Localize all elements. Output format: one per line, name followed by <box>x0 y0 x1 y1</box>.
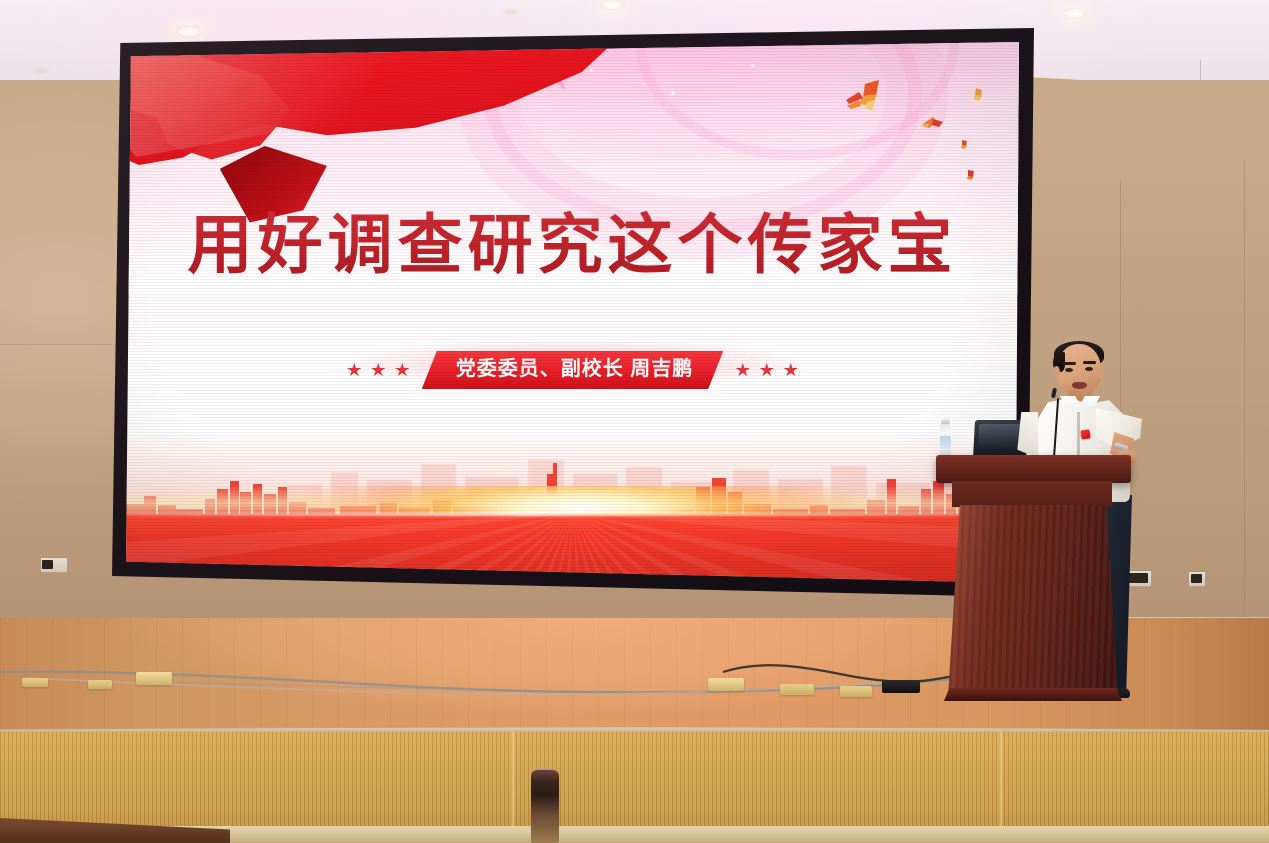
slide-ground-scene <box>126 348 1019 589</box>
podium-body <box>948 505 1118 697</box>
origami-bird-icon <box>965 168 979 181</box>
speaker-ear <box>1053 366 1060 378</box>
bottle-cap <box>941 418 950 424</box>
stage-panel-seam <box>1000 732 1002 827</box>
party-badge-pin <box>1080 429 1090 439</box>
cable-tape-strip <box>708 678 744 691</box>
cable-tape-strip <box>88 680 112 689</box>
origami-bird-icon <box>919 115 945 131</box>
auditorium-photo: 用好调查研究这个传家宝 党委委员、副校长 周吉鹏 <box>0 0 1269 843</box>
ceiling-downlight <box>30 66 52 75</box>
speaker-eye <box>1065 368 1073 372</box>
speaker-ear <box>1097 366 1104 378</box>
ceiling-downlight <box>1062 8 1087 19</box>
led-screen[interactable]: 用好调查研究这个传家宝 党委委员、副校长 周吉鹏 <box>126 42 1019 589</box>
wall-panel-seam <box>1244 160 1245 620</box>
cable-tape-strip <box>840 686 872 697</box>
cable-tape-strip <box>780 684 814 695</box>
outlet-slot <box>1129 573 1148 583</box>
horizon-light-streak <box>126 513 1019 516</box>
speaker-eyebrow <box>1063 362 1076 365</box>
ceiling-downlight <box>500 8 520 16</box>
wall-panel-seam <box>0 344 112 345</box>
wall-outlet[interactable] <box>1188 571 1206 587</box>
outlet-slot <box>1191 574 1202 583</box>
speaker-eyebrow <box>1083 361 1096 364</box>
origami-bird-icon <box>959 138 972 150</box>
cable-tape-strip <box>136 672 172 685</box>
origami-bird-icon <box>970 86 988 102</box>
podium-top-surface <box>936 455 1131 483</box>
ceiling-downlight <box>600 0 625 10</box>
slide-title: 用好调查研究这个传家宝 <box>126 192 1019 286</box>
power-adapter-brick <box>882 680 920 693</box>
speaker-eye <box>1085 367 1093 371</box>
stage-panel-seam <box>512 732 514 827</box>
cable-tape-strip <box>22 678 48 687</box>
sparkle-dot <box>751 64 754 67</box>
podium-base <box>944 688 1122 701</box>
bottle-label <box>940 436 951 448</box>
audience-chair <box>531 770 559 843</box>
wall-outlet[interactable] <box>40 557 68 573</box>
ceiling-downlight <box>176 26 202 37</box>
speaker-mouth <box>1072 382 1087 389</box>
outlet-slot <box>42 560 53 569</box>
podium-neck <box>952 481 1112 507</box>
sparkle-dot <box>671 91 675 95</box>
origami-bird-icon <box>845 78 901 116</box>
